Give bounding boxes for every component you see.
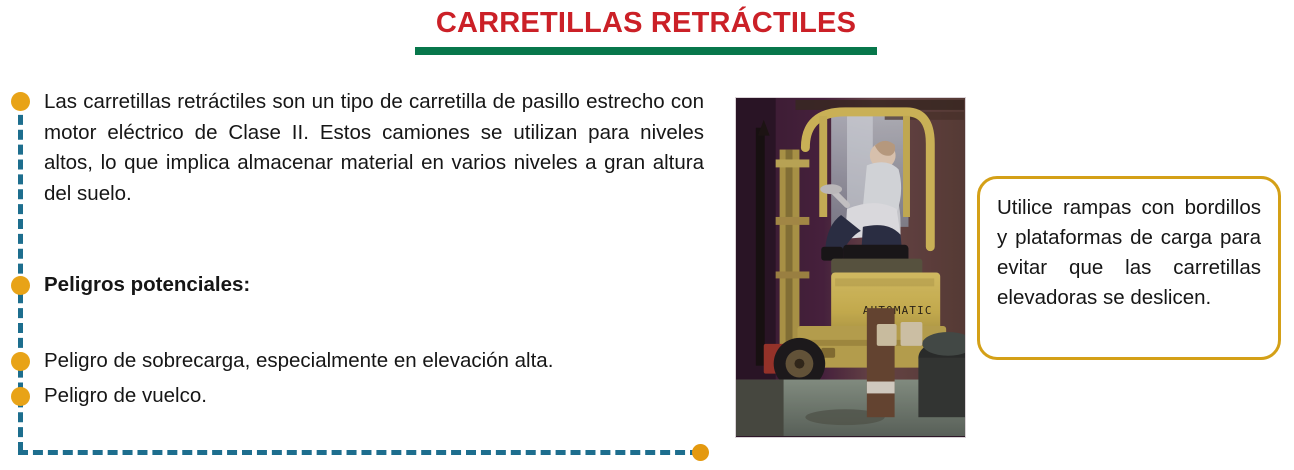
- list-item-label: Peligro de sobrecarga, especialmente en …: [44, 346, 704, 377]
- title-underline-rule: [415, 47, 877, 55]
- bullet-dot-icon: [11, 276, 30, 295]
- bullet-dot-icon: [11, 387, 30, 406]
- dashed-connector-horizontal: [18, 450, 700, 455]
- title-block: CARRETILLAS RETRÁCTILES: [415, 4, 877, 55]
- advice-callout-box: Utilice rampas con bordillos y plataform…: [977, 176, 1281, 360]
- bullet-dot-icon: [11, 352, 30, 371]
- bullet-dot-icon: [11, 92, 30, 111]
- list-item-label: Peligro de vuelco.: [44, 381, 704, 412]
- list-item-label: Las carretillas retráctiles son un tipo …: [44, 87, 704, 209]
- connector-end-dot: [692, 444, 709, 461]
- forklift-photo: AUTOMATIC: [735, 97, 966, 438]
- forklift-photo-illustration: AUTOMATIC: [736, 98, 965, 436]
- page-title: CARRETILLAS RETRÁCTILES: [415, 4, 877, 42]
- advice-callout-text: Utilice rampas con bordillos y plataform…: [997, 193, 1261, 313]
- list-item-label: Peligros potenciales:: [44, 270, 704, 301]
- bullet-list: Las carretillas retráctiles son un tipo …: [0, 88, 720, 468]
